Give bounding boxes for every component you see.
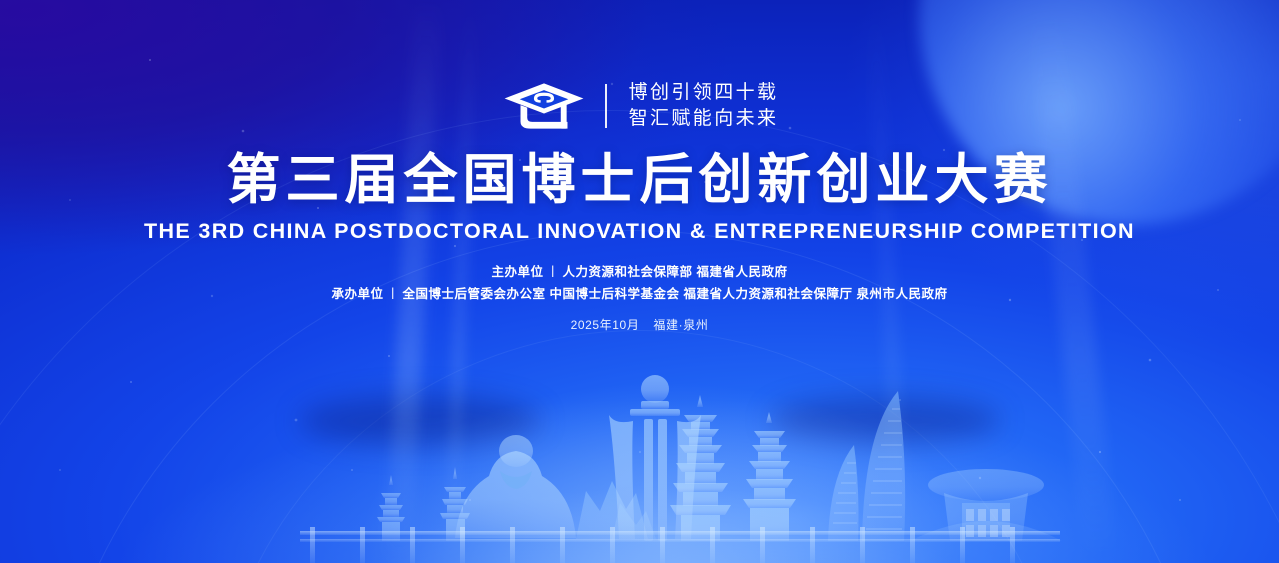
page-title-en: THE 3RD CHINA POSTDOCTORAL INNOVATION & … bbox=[0, 219, 1279, 245]
event-datetime-location: 2025年10月福建·泉州 bbox=[0, 316, 1279, 333]
slogan-line-1: 博创引领四十载 bbox=[629, 82, 779, 104]
poster-canvas: 博创引领四十载 智汇赋能向未来 第三届全国博士后创新创业大赛 THE 3RD C… bbox=[0, 0, 1279, 563]
brand-slogan: 博创引领四十载 智汇赋能向未来 bbox=[629, 82, 779, 130]
organizer-line-coorganizer: 承办单位丨全国博士后管委会办公室 中国博士后科学基金会 福建省人力资源和社会保障… bbox=[0, 283, 1279, 302]
event-location: 福建·泉州 bbox=[653, 318, 708, 332]
organizer-separator: 丨 bbox=[384, 287, 403, 301]
organizer-role-host: 主办单位 bbox=[491, 265, 543, 279]
organizer-line-host: 主办单位丨人力资源和社会保障部 福建省人民政府 bbox=[0, 261, 1279, 280]
poster-content: 博创引领四十载 智汇赋能向未来 第三届全国博士后创新创业大赛 THE 3RD C… bbox=[0, 0, 1279, 563]
organizer-role-coorganizer: 承办单位 bbox=[332, 287, 384, 301]
organizer-separator: 丨 bbox=[544, 265, 563, 279]
graduation-cap-logo-icon bbox=[501, 80, 587, 132]
organizer-names-host: 人力资源和社会保障部 福建省人民政府 bbox=[563, 265, 788, 279]
page-title-cn: 第三届全国博士后创新创业大赛 bbox=[0, 152, 1279, 209]
lockup-divider bbox=[605, 84, 607, 128]
brand-lockup: 博创引领四十载 智汇赋能向未来 bbox=[0, 80, 1279, 132]
event-date: 2025年10月 bbox=[571, 318, 640, 332]
slogan-line-2: 智汇赋能向未来 bbox=[629, 108, 779, 130]
organizer-names-coorganizer: 全国博士后管委会办公室 中国博士后科学基金会 福建省人力资源和社会保障厅 泉州市… bbox=[403, 287, 948, 301]
